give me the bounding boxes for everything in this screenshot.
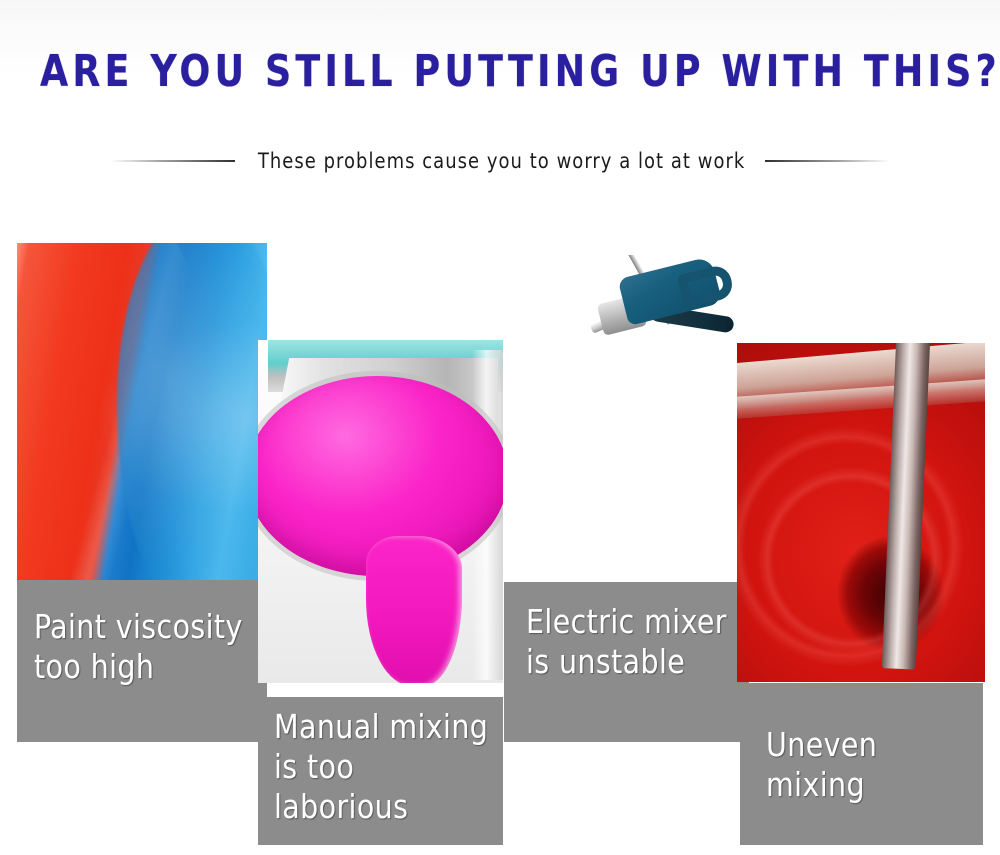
panel-caption-bar-3: Electric mixer is unstable [504,582,749,742]
panel-image-paint-viscosity [17,243,267,580]
panel-caption-label-3: Electric mixer is unstable [526,602,727,682]
panel-image-manual-mixing [258,340,503,683]
page-title: ARE YOU STILL PUTTING UP WITH THIS? [40,47,960,97]
subtitle-row: These problems cause you to worry a lot … [0,146,1000,176]
panel-image-electric-mixer [504,255,736,582]
panel-caption-bar-1: Paint viscosity too high [17,580,267,742]
promo-banner: ARE YOU STILL PUTTING UP WITH THIS? Thes… [0,0,1000,855]
panel-caption-bar-2: Manual mixing is too laborious [258,697,503,845]
divider-left [110,160,235,162]
panel-image-uneven-mixing [737,343,985,682]
panel-caption-label-4: Uneven mixing [766,725,974,805]
pink-paint-pour-shape [366,536,462,683]
divider-right [765,160,890,162]
panel-caption-bar-4: Uneven mixing [740,683,983,845]
panel-caption-label-1: Paint viscosity too high [34,607,243,687]
panel-caption-label-2: Manual mixing is too laborious [274,707,494,827]
subtitle-text: These problems cause you to worry a lot … [258,149,746,173]
